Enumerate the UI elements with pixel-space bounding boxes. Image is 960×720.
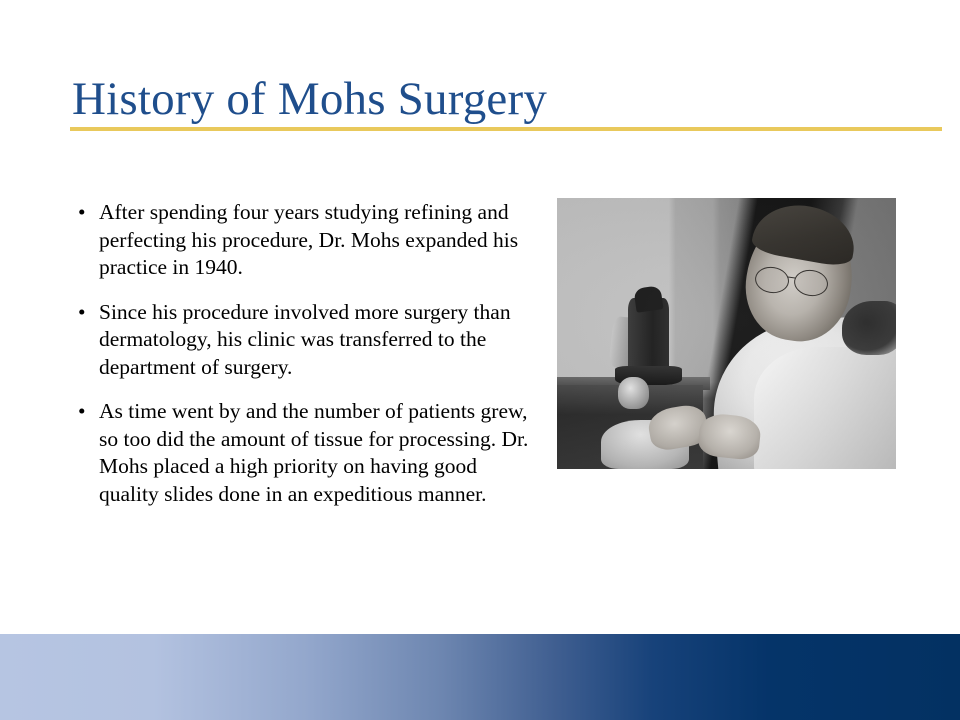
list-item-text: After spending four years studying refin… (99, 200, 518, 279)
list-item-text: Since his procedure involved more surger… (99, 300, 511, 379)
slide: History of Mohs Surgery • After spending… (0, 0, 960, 720)
list-item: • As time went by and the number of pati… (72, 398, 542, 508)
list-item: • After spending four years studying ref… (72, 199, 542, 282)
bullet-icon: • (78, 299, 86, 327)
list-item-text: As time went by and the number of patien… (99, 399, 528, 506)
photo-vignette (557, 198, 896, 469)
bullet-list: • After spending four years studying ref… (72, 199, 542, 508)
bullet-icon: • (78, 398, 86, 426)
footer-band: ACMS M American College of Mohs Surgery (0, 634, 960, 720)
list-item: • Since his procedure involved more surg… (72, 299, 542, 382)
title-underline-rule (70, 127, 942, 131)
page-title: History of Mohs Surgery (72, 71, 932, 127)
historical-photo (557, 198, 896, 469)
photo-background (557, 198, 896, 469)
bullet-icon: • (78, 199, 86, 227)
